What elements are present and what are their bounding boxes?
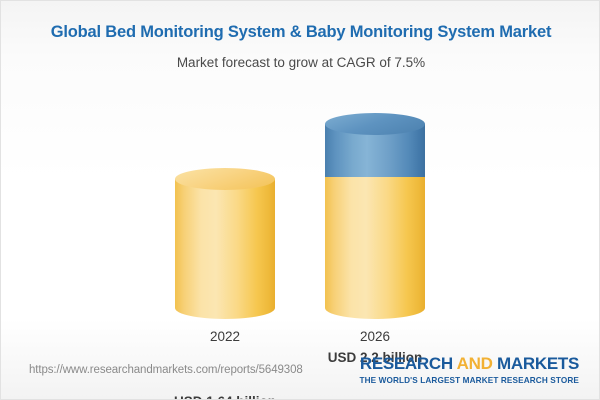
research-and-markets-logo[interactable]: RESEARCH AND MARKETS THE WORLD'S LARGEST… — [359, 355, 579, 385]
logo-word-and: AND — [457, 354, 493, 373]
cylinder-segment-base-2022 — [175, 168, 275, 308]
logo-word-markets: MARKETS — [497, 354, 579, 373]
cylinder-segment-growth-2026 — [325, 113, 425, 177]
logo-wordmark: RESEARCH AND MARKETS — [359, 355, 579, 374]
axis-label-2026: 2026 — [275, 329, 475, 344]
header: Global Bed Monitoring System & Baby Moni… — [1, 1, 600, 71]
cylinder-body — [325, 177, 425, 308]
page-subtitle: Market forecast to grow at CAGR of 7.5% — [1, 43, 600, 71]
footer: https://www.researchandmarkets.com/repor… — [1, 345, 600, 399]
cylinder-top-ellipse — [175, 168, 275, 190]
report-url[interactable]: https://www.researchandmarkets.com/repor… — [29, 364, 303, 376]
logo-tagline: THE WORLD'S LARGEST MARKET RESEARCH STOR… — [359, 376, 579, 385]
cylinder-2022 — [175, 168, 275, 308]
cylinder-top-ellipse — [325, 113, 425, 135]
cylinder-2026 — [325, 113, 425, 308]
cylinder-bottom-ellipse — [175, 297, 275, 319]
cylinder-body — [175, 179, 275, 308]
bar-chart: USD 1.64 billion 2022 USD 2.2 billion — [1, 86, 600, 346]
cylinder-bottom-ellipse — [325, 297, 425, 319]
market-forecast-infographic: Global Bed Monitoring System & Baby Moni… — [0, 0, 600, 400]
cylinder-segment-base-2026 — [325, 166, 425, 308]
logo-word-research: RESEARCH — [360, 354, 453, 373]
page-title: Global Bed Monitoring System & Baby Moni… — [1, 1, 600, 43]
